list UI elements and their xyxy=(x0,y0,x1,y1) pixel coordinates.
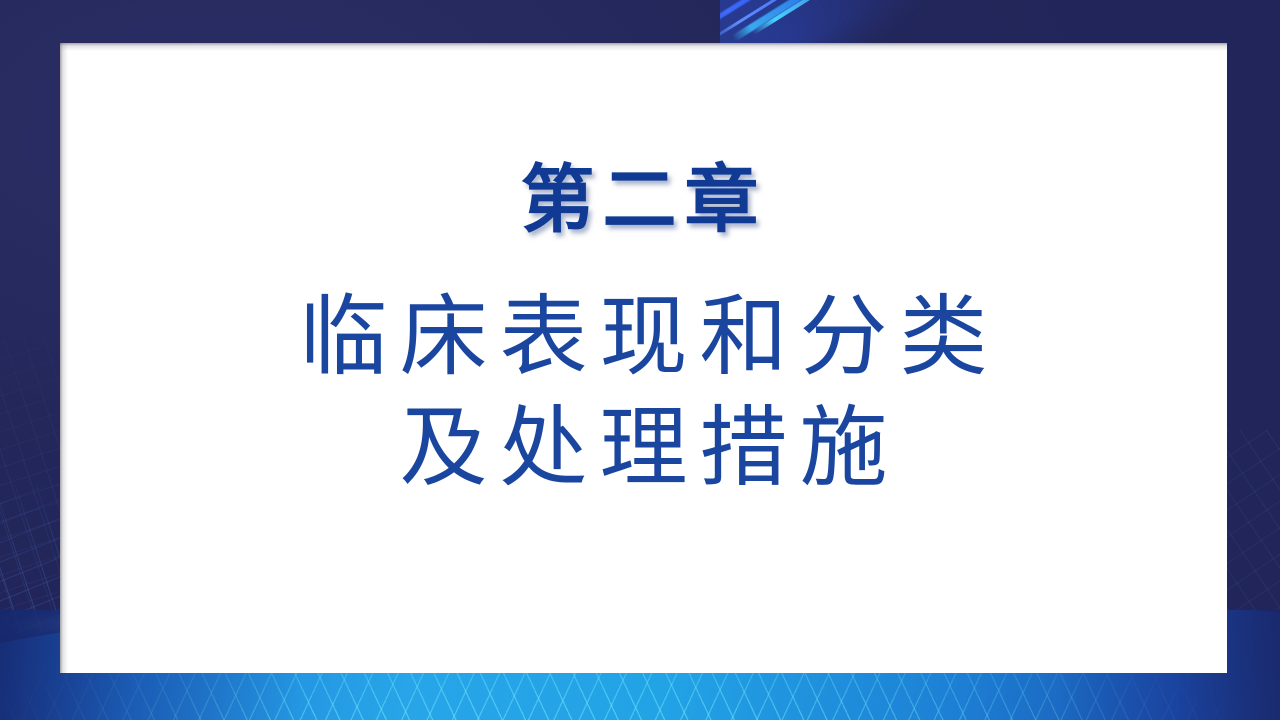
subtitle-line-1: 临床表现和分类 xyxy=(60,283,1227,390)
content-panel: 第二章 临床表现和分类 及处理措施 xyxy=(60,43,1227,673)
subtitle-line-2: 及处理措施 xyxy=(60,394,1227,501)
title-block: 第二章 临床表现和分类 及处理措施 xyxy=(60,161,1227,502)
chapter-heading: 第二章 xyxy=(60,161,1227,241)
presentation-slide: 第二章 临床表现和分类 及处理措施 xyxy=(0,0,1280,720)
